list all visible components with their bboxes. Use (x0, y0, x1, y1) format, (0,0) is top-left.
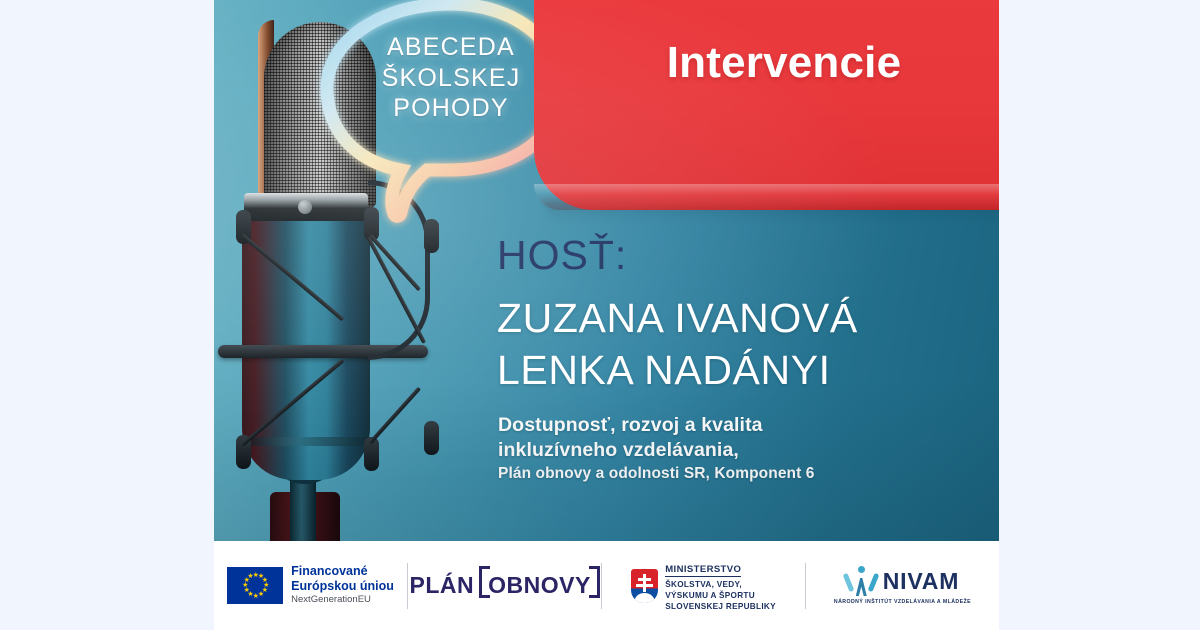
show-name-line-1: ABECEDA (361, 32, 541, 63)
shock-mount-wire (241, 233, 345, 321)
nivam-figure-icon (846, 566, 876, 596)
episode-subtitle: Dostupnosť, rozvoj a kvalita inkluzívneh… (498, 413, 815, 485)
bracket-frame-icon: OBNOVY (479, 572, 600, 599)
show-name-line-3: POHODY (361, 93, 541, 124)
guest-name-2: LENKA NADÁNYI (497, 344, 858, 396)
guest-names: ZUZANA IVANOVÁ LENKA NADÁNYI (497, 292, 858, 397)
nivam-logo: NIVAM NÁRODNÝ INŠTITÚT VZDELÁVANIA A MLÁ… (806, 554, 999, 618)
eu-star-icon: ★ (244, 588, 249, 593)
eu-star-icon: ★ (242, 583, 247, 588)
microphone-shock-mount (218, 225, 468, 475)
ministry-line-1: MINISTERSTVO (665, 564, 741, 577)
shock-mount-wire (241, 359, 345, 447)
plan-obnovy-word-1: PLÁN (409, 572, 474, 599)
eu-flag-icon: ★★★★★★★★★★★★ (227, 567, 283, 604)
ministry-line-3: VÝSKUMU A ŠPORTU (665, 590, 776, 601)
episode-title: Intervencie (534, 38, 999, 88)
show-name-line-2: ŠKOLSKEJ (361, 63, 541, 94)
eu-logo-line-2: Európskou úniou (291, 579, 394, 594)
ministry-logo: MINISTERSTVO ŠKOLSTVA, VEDY, VÝSKUMU A Š… (602, 554, 805, 618)
subtitle-line-3: Plán obnovy a odolnosti SR, Komponent 6 (498, 462, 815, 485)
eu-funding-logo: ★★★★★★★★★★★★ Financované Európskou úniou… (214, 554, 407, 618)
show-name: ABECEDA ŠKOLSKEJ POHODY (361, 32, 541, 124)
ministry-line-2: ŠKOLSTVA, VEDY, (665, 579, 776, 590)
ministry-line-4: SLOVENSKEJ REPUBLIKY (665, 601, 776, 612)
plan-obnovy-word-2: OBNOVY (488, 572, 591, 598)
guest-name-1: ZUZANA IVANOVÁ (497, 292, 858, 344)
logo-footer: ★★★★★★★★★★★★ Financované Európskou úniou… (214, 541, 999, 630)
host-label: HOSŤ: (497, 232, 627, 279)
episode-title-panel: Intervencie (534, 0, 999, 210)
subtitle-line-1: Dostupnosť, rozvoj a kvalita (498, 413, 815, 438)
plan-obnovy-logo: PLÁN OBNOVY (408, 554, 601, 618)
slovak-coat-of-arms-icon (631, 569, 658, 603)
eu-logo-line-3: NextGenerationEU (291, 594, 394, 607)
shock-mount-wire (369, 387, 421, 445)
eu-star-icon: ★ (247, 574, 252, 579)
nivam-subtitle: NÁRODNÝ INŠTITÚT VZDELÁVANIA A MLÁDEŽE (834, 599, 971, 605)
podcast-episode-poster: ABECEDA ŠKOLSKEJ POHODY Intervencie HOSŤ… (214, 0, 999, 630)
nivam-wordmark: NIVAM (883, 568, 959, 595)
poster-stage: ABECEDA ŠKOLSKEJ POHODY Intervencie HOSŤ… (0, 0, 1200, 630)
eu-logo-line-1: Financované (291, 564, 394, 579)
poster-artwork: ABECEDA ŠKOLSKEJ POHODY Intervencie HOSŤ… (214, 0, 999, 541)
shock-mount-post (424, 421, 439, 455)
subtitle-line-2: inkluzívneho vzdelávania, (498, 438, 815, 463)
